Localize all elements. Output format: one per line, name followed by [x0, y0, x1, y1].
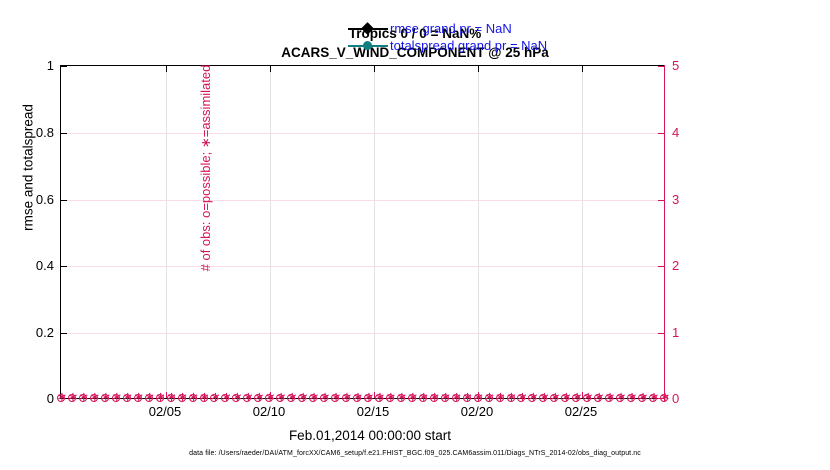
obs-assimilated-marker: ∗: [342, 392, 351, 403]
ytick-label-right-2: 2: [672, 259, 712, 272]
obs-assimilated-marker: ∗: [495, 392, 504, 403]
ytick-label-right-3: 3: [672, 193, 712, 206]
obs-assimilated-marker: ∗: [418, 392, 427, 403]
y-axis-title-left: rmse and totalspread: [21, 28, 36, 308]
gridline-v-0215: [374, 66, 375, 398]
obs-assimilated-marker: ∗: [561, 392, 570, 403]
obs-assimilated-marker: ∗: [440, 392, 449, 403]
legend-marker-diamond-icon: [361, 22, 374, 35]
ytick-left-0.8: [61, 133, 67, 134]
xtick-label-0220: 02/20: [442, 405, 512, 418]
legend-label-totalspread: totalspread grand pr = NaN: [390, 38, 547, 53]
obs-assimilated-marker: ∗: [177, 392, 186, 403]
xtick-label-0225: 02/25: [546, 405, 616, 418]
obs-assimilated-marker: ∗: [649, 392, 658, 403]
obs-assimilated-marker: ∗: [298, 392, 307, 403]
obs-assimilated-marker: ∗: [451, 392, 460, 403]
obs-assimilated-marker: ∗: [57, 392, 66, 403]
obs-assimilated-marker: ∗: [429, 392, 438, 403]
obs-assimilated-marker: ∗: [605, 392, 614, 403]
ytick-label-right-1: 1: [672, 326, 712, 339]
obs-assimilated-marker: ∗: [473, 392, 482, 403]
obs-assimilated-marker: ∗: [539, 392, 548, 403]
obs-assimilated-marker: ∗: [396, 392, 405, 403]
legend-sample-totalspread: [348, 39, 388, 53]
xtick-top-0215: [374, 66, 375, 72]
obs-assimilated-marker: ∗: [353, 392, 362, 403]
data-file-note: data file: /Users/raeder/DAI/ATM_forcXX/…: [0, 450, 830, 457]
ytick-right-3: [658, 200, 664, 201]
obs-assimilated-marker: ∗: [199, 392, 208, 403]
obs-assimilated-marker: ∗: [221, 392, 230, 403]
ytick-label-right-0: 0: [672, 392, 712, 405]
obs-assimilated-marker: ∗: [133, 392, 142, 403]
obs-assimilated-marker: ∗: [572, 392, 581, 403]
legend-item-totalspread: totalspread grand pr = NaN: [348, 37, 594, 54]
obs-assimilated-marker: ∗: [550, 392, 559, 403]
obs-assimilated-marker: ∗: [122, 392, 131, 403]
ytick-left-1: [61, 66, 67, 67]
ytick-label-right-5: 5: [672, 59, 712, 72]
gridline-v-0225: [582, 66, 583, 398]
legend-item-rmse: rmse grand pr = NaN: [348, 20, 594, 37]
obs-assimilated-marker: ∗: [374, 392, 383, 403]
obs-assimilated-marker: ∗: [638, 392, 647, 403]
gridline-h-0.8: [61, 133, 664, 134]
obs-assimilated-marker: ∗: [660, 392, 669, 403]
ytick-label-right-4: 4: [672, 126, 712, 139]
x-axis-title: Feb.01,2014 00:00:00 start: [0, 428, 740, 443]
legend-marker-circle-icon: [363, 41, 372, 50]
obs-assimilated-marker: ∗: [331, 392, 340, 403]
obs-assimilated-marker: ∗: [616, 392, 625, 403]
ytick-left-0.2: [61, 333, 67, 334]
xtick-label-0210: 02/10: [234, 405, 304, 418]
xtick-top-0210: [270, 66, 271, 72]
obs-assimilated-marker: ∗: [89, 392, 98, 403]
obs-assimilated-marker: ∗: [100, 392, 109, 403]
ytick-left-0.4: [61, 266, 67, 267]
ytick-label-left-0: 0: [6, 392, 54, 405]
obs-assimilated-marker: ∗: [155, 392, 164, 403]
obs-assimilated-marker: ∗: [484, 392, 493, 403]
gridline-h-0.6: [61, 200, 664, 201]
obs-assimilated-marker: ∗: [320, 392, 329, 403]
obs-assimilated-marker: ∗: [276, 392, 285, 403]
obs-assimilated-marker: ∗: [232, 392, 241, 403]
obs-assimilated-marker: ∗: [517, 392, 526, 403]
y-axis-title-right: # of obs: o=possible; ∗=assimilated: [198, 18, 214, 318]
ytick-right-5: [658, 66, 664, 67]
xtick-label-0205: 02/05: [130, 405, 200, 418]
obs-assimilated-marker: ∗: [627, 392, 636, 403]
obs-assimilated-marker: ∗: [407, 392, 416, 403]
obs-assimilated-marker: ∗: [166, 392, 175, 403]
obs-assimilated-marker: ∗: [144, 392, 153, 403]
xtick-top-0205: [166, 66, 167, 72]
obs-assimilated-marker: ∗: [594, 392, 603, 403]
gridline-v-0205: [166, 66, 167, 398]
obs-assimilated-marker: ∗: [188, 392, 197, 403]
gridline-v-0220: [478, 66, 479, 398]
gridline-h-0.2: [61, 333, 664, 334]
gridline-v-0210: [270, 66, 271, 398]
xtick-label-0215: 02/15: [338, 405, 408, 418]
plot-area: ∗∗∗∗∗∗∗∗∗∗∗∗∗∗∗∗∗∗∗∗∗∗∗∗∗∗∗∗∗∗∗∗∗∗∗∗∗∗∗∗…: [60, 65, 665, 399]
obs-assimilated-marker: ∗: [254, 392, 263, 403]
legend-label-rmse: rmse grand pr = NaN: [390, 21, 512, 36]
obs-assimilated-marker: ∗: [309, 392, 318, 403]
obs-assimilated-marker: ∗: [385, 392, 394, 403]
ytick-right-1: [658, 333, 664, 334]
ytick-label-left-0.2: 0.2: [6, 326, 54, 339]
obs-assimilated-marker: ∗: [528, 392, 537, 403]
obs-assimilated-marker: ∗: [583, 392, 592, 403]
obs-assimilated-marker: ∗: [363, 392, 372, 403]
obs-assimilated-marker: ∗: [210, 392, 219, 403]
xtick-top-0225: [582, 66, 583, 72]
obs-assimilated-marker: ∗: [111, 392, 120, 403]
ytick-left-0.6: [61, 200, 67, 201]
gridline-h-0.4: [61, 266, 664, 267]
legend-sample-rmse: [348, 22, 388, 36]
obs-assimilated-marker: ∗: [462, 392, 471, 403]
obs-assimilated-marker: ∗: [506, 392, 515, 403]
obs-assimilated-marker: ∗: [78, 392, 87, 403]
obs-assimilated-marker: ∗: [243, 392, 252, 403]
obs-assimilated-marker: ∗: [287, 392, 296, 403]
obs-assimilated-marker: ∗: [67, 392, 76, 403]
chart-legend: rmse grand pr = NaN totalspread grand pr…: [348, 20, 594, 54]
ytick-right-2: [658, 266, 664, 267]
obs-assimilated-marker: ∗: [265, 392, 274, 403]
xtick-top-0220: [478, 66, 479, 72]
ytick-right-4: [658, 133, 664, 134]
